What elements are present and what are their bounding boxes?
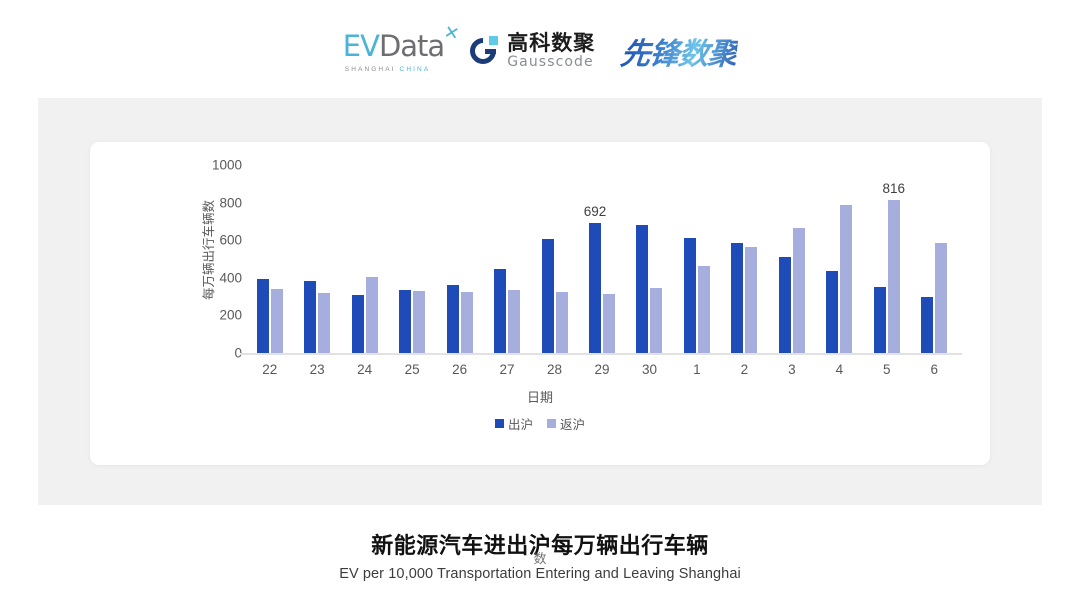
legend-label: 出沪: [508, 414, 533, 433]
gausscode-english-name: Gausscode: [507, 55, 595, 70]
chart-legend: 出沪返沪: [90, 414, 990, 433]
bar-wrapper: [366, 277, 378, 353]
x-axis-tick-label: 23: [310, 362, 325, 377]
evdata-ev-text: EV: [343, 29, 379, 63]
bar[interactable]: [556, 292, 568, 353]
bar[interactable]: [935, 243, 947, 353]
caption-artifact-glyph: 数: [533, 548, 546, 567]
bar-group: 692: [578, 165, 625, 353]
bar-wrapper: 692: [589, 223, 601, 353]
chart-panel-background: 每万辆出行车辆数 02004006008001000 692816 222324…: [38, 98, 1042, 505]
bar-group: [721, 165, 768, 353]
bar-chart: 每万辆出行车辆数 02004006008001000 692816 222324…: [90, 142, 990, 465]
evdata-logo: EV Data ✕ SHANGHAI CHINA: [343, 29, 444, 73]
bar-wrapper: [352, 295, 364, 353]
x-axis-tick-label: 3: [788, 362, 796, 377]
bar-wrapper: [461, 292, 473, 353]
gausscode-chinese-name: 高科数聚: [507, 32, 595, 54]
x-axis-tick-label: 1: [693, 362, 701, 377]
bar[interactable]: [589, 223, 601, 353]
x-axis-tick-label: 24: [357, 362, 372, 377]
bar-group: [246, 165, 293, 353]
bar-wrapper: [745, 247, 757, 353]
x-axis-tick-label: 6: [931, 362, 939, 377]
x-axis-tick-label: 4: [836, 362, 844, 377]
bar[interactable]: [447, 285, 459, 353]
bar-wrapper: [508, 290, 520, 353]
bar[interactable]: [698, 266, 710, 353]
bar-wrapper: [271, 289, 283, 353]
bar[interactable]: [257, 279, 269, 353]
x-axis-tick-label: 2: [741, 362, 749, 377]
bar-value-label: 816: [883, 181, 906, 196]
y-axis-tick-label: 400: [219, 270, 242, 285]
cross-icon: ✕: [442, 22, 461, 46]
bar[interactable]: [793, 228, 805, 353]
legend-swatch: [547, 419, 556, 428]
evdata-data-text: Data: [379, 29, 444, 63]
bar-wrapper: [413, 291, 425, 353]
bar-group: 816: [863, 165, 910, 353]
bar-group: [388, 165, 435, 353]
bar[interactable]: [352, 295, 364, 353]
bar-value-label: 692: [584, 204, 607, 219]
bar[interactable]: [413, 291, 425, 353]
slide-page: EV Data ✕ SHANGHAI CHINA 高科数聚 Gausscode …: [0, 0, 1080, 608]
x-axis-title: 日期: [90, 387, 990, 406]
gausscode-g-icon: [470, 36, 500, 66]
bar-wrapper: [650, 288, 662, 353]
bar-wrapper: [556, 292, 568, 353]
legend-swatch: [495, 419, 504, 428]
x-axis-tick-label: 27: [500, 362, 515, 377]
bar-wrapper: [935, 243, 947, 353]
legend-item[interactable]: 出沪: [495, 414, 533, 433]
evdata-tagline-country: CHINA: [400, 66, 431, 73]
bar-group: [483, 165, 530, 353]
y-axis-tick-label: 200: [219, 308, 242, 323]
bar[interactable]: [508, 290, 520, 353]
bar[interactable]: [494, 269, 506, 353]
y-axis-tick-label: 800: [219, 195, 242, 210]
x-axis-tick-label: 25: [405, 362, 420, 377]
bar-wrapper: [731, 243, 743, 353]
x-axis-tick-label: 29: [594, 362, 609, 377]
bar[interactable]: [731, 243, 743, 353]
gausscode-logo: 高科数聚 Gausscode: [470, 32, 595, 70]
bar-group: [911, 165, 958, 353]
bar-group: [673, 165, 720, 353]
caption-block: 新能源汽车进出沪每万辆出行车辆 数 EV per 10,000 Transpor…: [0, 528, 1080, 582]
gausscode-wordmark: 高科数聚 Gausscode: [507, 32, 595, 70]
page-subtitle: EV per 10,000 Transportation Entering an…: [0, 566, 1080, 582]
bar-wrapper: [494, 269, 506, 353]
bar-wrapper: [603, 294, 615, 353]
bar-wrapper: 816: [888, 200, 900, 353]
x-axis-tick-label: 28: [547, 362, 562, 377]
bar[interactable]: [636, 225, 648, 353]
evdata-tagline: SHANGHAI CHINA: [343, 66, 431, 73]
y-axis-tick-label: 1000: [212, 158, 242, 173]
x-axis-tick-label: 5: [883, 362, 891, 377]
bar[interactable]: [874, 287, 886, 353]
bar-group: [768, 165, 815, 353]
bar-group: [531, 165, 578, 353]
bar-wrapper: [257, 279, 269, 353]
gausscode-square-shape: [489, 36, 498, 45]
x-axis-tick-label: 26: [452, 362, 467, 377]
x-axis-line: [240, 353, 962, 355]
evdata-wordmark: EV Data ✕: [343, 29, 444, 63]
bar[interactable]: [542, 239, 554, 353]
bar-wrapper: [793, 228, 805, 353]
bar-group: [436, 165, 483, 353]
bar[interactable]: [745, 247, 757, 353]
bar[interactable]: [304, 281, 316, 353]
bar-wrapper: [447, 285, 459, 353]
bar[interactable]: [603, 294, 615, 353]
x-axis-tick-label: 22: [262, 362, 277, 377]
bar[interactable]: [779, 257, 791, 353]
gausscode-bar-shape: [485, 49, 496, 54]
evdata-tagline-city: SHANGHAI: [345, 66, 396, 73]
bar-wrapper: [399, 290, 411, 353]
bar[interactable]: [826, 271, 838, 353]
legend-label: 返沪: [560, 414, 585, 433]
bar-wrapper: [542, 239, 554, 353]
bar-group: [341, 165, 388, 353]
bar[interactable]: [840, 205, 852, 353]
bar[interactable]: [271, 289, 283, 353]
bar-wrapper: [304, 281, 316, 353]
xianfeng-logo: 先锋数聚: [621, 29, 737, 73]
plot-area: 692816: [246, 165, 958, 353]
x-axis-tick-label: 30: [642, 362, 657, 377]
bar-wrapper: [318, 293, 330, 353]
bar-wrapper: [684, 238, 696, 353]
bar-group: [816, 165, 863, 353]
bar-wrapper: [921, 297, 933, 353]
bar-wrapper: [826, 271, 838, 353]
bar[interactable]: [650, 288, 662, 353]
logo-bar: EV Data ✕ SHANGHAI CHINA 高科数聚 Gausscode …: [0, 22, 1080, 80]
y-axis-tick-label: 600: [219, 233, 242, 248]
bar-wrapper: [779, 257, 791, 353]
bar[interactable]: [888, 200, 900, 353]
bar[interactable]: [684, 238, 696, 353]
bar-wrapper: [840, 205, 852, 353]
bar-group: [626, 165, 673, 353]
bar-group: [293, 165, 340, 353]
y-axis-ticks: 02004006008001000: [190, 165, 242, 355]
legend-item[interactable]: 返沪: [547, 414, 585, 433]
bar[interactable]: [366, 277, 378, 353]
bar-wrapper: [636, 225, 648, 353]
bar-wrapper: [698, 266, 710, 353]
bar[interactable]: [461, 292, 473, 353]
bar[interactable]: [318, 293, 330, 353]
chart-card: 每万辆出行车辆数 02004006008001000 692816 222324…: [90, 142, 990, 465]
xianfeng-wordmark: 先锋数聚: [619, 29, 740, 73]
x-axis-ticks: 222324252627282930123456: [246, 362, 958, 382]
bar[interactable]: [399, 290, 411, 353]
bar[interactable]: [921, 297, 933, 353]
bar-wrapper: [874, 287, 886, 353]
